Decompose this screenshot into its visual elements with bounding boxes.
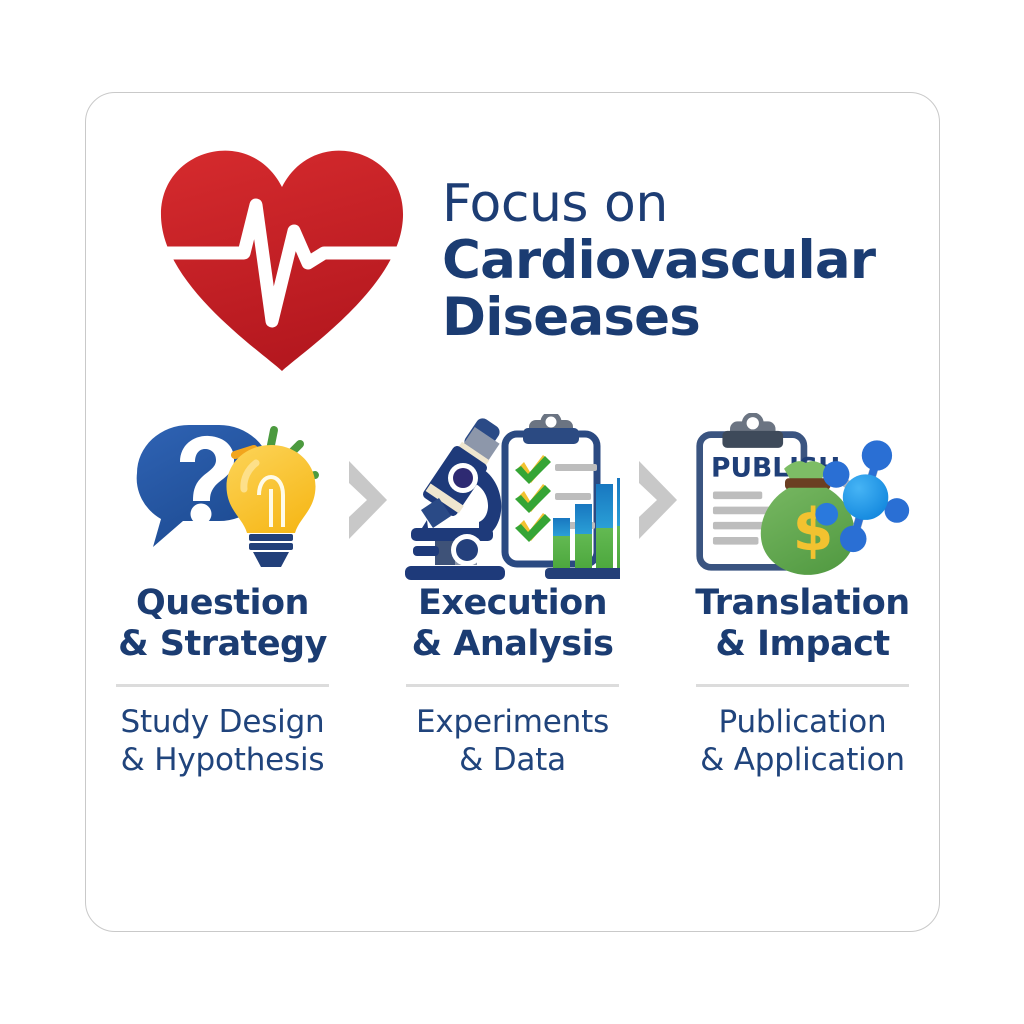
step-icon-question-strategy [114, 413, 332, 588]
step-subtitle-line-2: & Hypothesis [121, 742, 325, 780]
step-title-line-1: Execution [418, 583, 607, 624]
step-subtitle-line-2: & Application [700, 742, 905, 780]
flow-arrow-1 [332, 413, 404, 588]
step-label-question-strategy: Question & Strategy Study Design & Hypot… [114, 583, 332, 780]
step-title-line-2: & Impact [715, 624, 889, 665]
header-section: Focus on Cardiovascular Diseases [86, 141, 939, 381]
step-title-line-1: Question [136, 583, 309, 624]
chevron-right-icon [343, 457, 393, 543]
flow-labels-row: Question & Strategy Study Design & Hypot… [86, 583, 939, 780]
infographic-card: Focus on Cardiovascular Diseases [85, 92, 940, 932]
flow-icons-row: PUBLISH $ [86, 405, 939, 595]
step-icon-execution-analysis [404, 413, 622, 588]
step-label-translation-impact: Translation & Impact Publication & Appli… [694, 583, 912, 780]
infographic-canvas: Focus on Cardiovascular Diseases [0, 0, 1024, 1024]
step-subtitle-line-1: Experiments [416, 704, 609, 742]
title-line-1: Focus on [442, 176, 875, 232]
step-subtitle-line-2: & Data [459, 742, 566, 780]
flow-arrow-2 [622, 413, 694, 588]
step-divider [406, 684, 619, 687]
step-subtitle-line-1: Publication [719, 704, 887, 742]
step-title-line-1: Translation [695, 583, 909, 624]
header-title-block: Focus on Cardiovascular Diseases [442, 176, 875, 347]
title-line-3: Diseases [442, 289, 875, 346]
title-line-2: Cardiovascular [442, 232, 875, 289]
heart-pulse-icon [152, 145, 412, 377]
step-divider [116, 684, 329, 687]
step-title-line-2: & Strategy [118, 624, 327, 665]
microscope-icon [405, 416, 505, 580]
step-subtitle-line-1: Study Design [121, 704, 325, 742]
step-icon-translation-impact: PUBLISH $ [694, 413, 912, 588]
step-title-line-2: & Analysis [412, 624, 614, 665]
chevron-right-icon [633, 457, 683, 543]
lightbulb-icon [226, 445, 315, 567]
step-label-execution-analysis: Execution & Analysis Experiments & Data [404, 583, 622, 780]
step-divider [696, 684, 909, 687]
